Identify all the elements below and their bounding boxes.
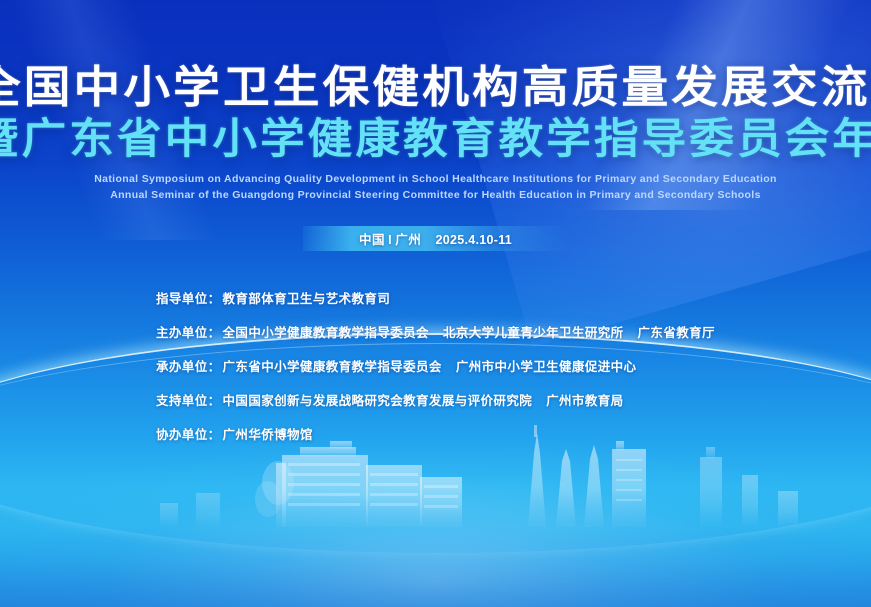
badge-date: 2025.4.10-11	[421, 233, 512, 247]
organization-label: 支持单位：	[156, 390, 221, 409]
right-highrise-silhouette	[700, 447, 798, 527]
organization-values: 全国中小学健康教育教学指导委员会北京大学儿童青少年卫生研究所广东省教育厅	[223, 322, 715, 341]
organization-value: 全国中小学健康教育教学指导委员会	[223, 322, 429, 341]
organization-label: 协办单位：	[156, 424, 221, 443]
subtitle-english-line1: National Symposium on Advancing Quality …	[0, 172, 871, 188]
location-date-text: 中国I广州2025.4.10-11	[359, 229, 512, 248]
organization-values: 广州华侨博物馆	[223, 424, 313, 443]
left-block-silhouette	[160, 493, 220, 527]
organization-row: 主办单位：全国中小学健康教育教学指导委员会北京大学儿童青少年卫生研究所广东省教育…	[156, 322, 715, 341]
location-date-badge: 中国I广州2025.4.10-11	[303, 226, 569, 251]
organization-row: 承办单位：广东省中小学健康教育教学指导委员会广州市中小学卫生健康促进中心	[156, 356, 715, 375]
conference-poster: 全国中小学卫生保健机构高质量发展交流研讨活动 暨广东省中小学健康教育教学指导委员…	[0, 0, 871, 607]
title-chinese-line1: 全国中小学卫生保健机构高质量发展交流研讨活动	[0, 66, 871, 110]
organization-value: 中国国家创新与发展战略研究会教育发展与评价研究院	[223, 390, 533, 409]
organization-row: 协办单位：广州华侨博物馆	[156, 424, 715, 443]
school-building-silhouette	[255, 441, 462, 527]
center-glow	[0, 430, 871, 607]
organization-values: 教育部体育卫生与艺术教育司	[223, 288, 391, 307]
organization-values: 广东省中小学健康教育教学指导委员会广州市中小学卫生健康促进中心	[223, 356, 637, 375]
organization-row: 指导单位：教育部体育卫生与艺术教育司	[156, 288, 715, 307]
badge-separator: I	[385, 233, 395, 247]
organization-value: 广州市教育局	[546, 390, 623, 409]
organization-label: 指导单位：	[156, 288, 221, 307]
title-chinese-line2: 暨广东省中小学健康教育教学指导委员会年度研讨活动	[0, 118, 871, 160]
organization-value: 广州市中小学卫生健康促进中心	[456, 356, 637, 375]
location-date-badge-wrap: 中国I广州2025.4.10-11	[0, 226, 871, 251]
organization-row: 支持单位：中国国家创新与发展战略研究会教育发展与评价研究院广州市教育局	[156, 390, 715, 409]
subtitle-english-line2: Annual Seminar of the Guangdong Provinci…	[0, 188, 871, 204]
title-block: 全国中小学卫生保健机构高质量发展交流研讨活动 暨广东省中小学健康教育教学指导委员…	[0, 66, 871, 204]
organization-value: 广东省中小学健康教育教学指导委员会	[223, 356, 442, 375]
organization-value: 教育部体育卫生与艺术教育司	[223, 288, 391, 307]
organization-list: 指导单位：教育部体育卫生与艺术教育司主办单位：全国中小学健康教育教学指导委员会北…	[156, 288, 715, 443]
badge-country: 中国	[359, 233, 385, 247]
office-tower-silhouette	[612, 441, 646, 527]
badge-city: 广州	[395, 233, 421, 247]
organization-value: 北京大学儿童青少年卫生研究所	[443, 322, 624, 341]
organization-label: 主办单位：	[156, 322, 221, 341]
twin-towers-silhouette	[556, 445, 604, 527]
organization-value: 广东省教育厅	[638, 322, 715, 341]
organization-value: 广州华侨博物馆	[223, 424, 313, 443]
organization-values: 中国国家创新与发展战略研究会教育发展与评价研究院广州市教育局	[223, 390, 624, 409]
subtitle-english: National Symposium on Advancing Quality …	[0, 172, 871, 204]
organization-label: 承办单位：	[156, 356, 221, 375]
bottom-fade	[0, 487, 871, 607]
